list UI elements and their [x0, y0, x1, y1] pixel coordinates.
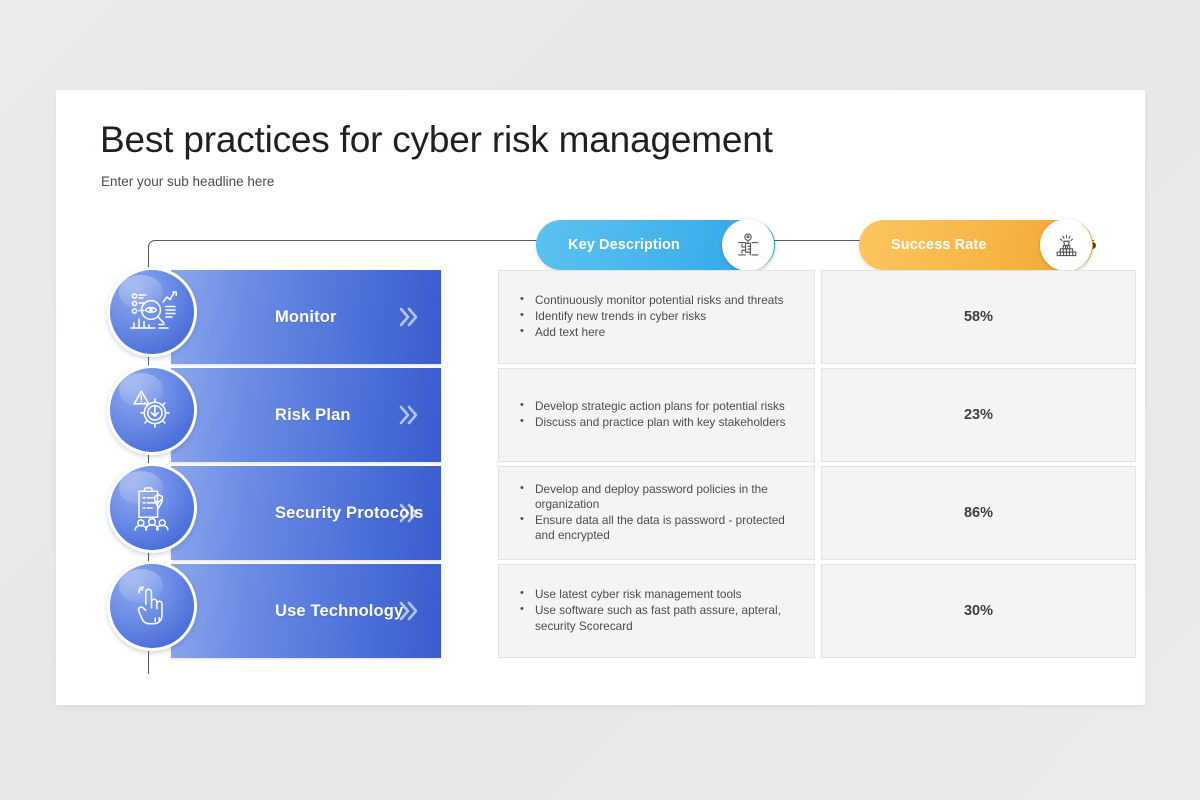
row-success-rate-risk-plan: 23% [821, 368, 1136, 462]
row-description-use-technology: Use latest cyber risk management tools U… [498, 564, 815, 658]
list-item: Identify new trends in cyber risks [535, 309, 804, 324]
table-row: Monitor [56, 270, 1145, 364]
row-label: Monitor [275, 308, 337, 327]
double-chevron-right-icon [393, 401, 421, 429]
header-key-description-label: Key Description [568, 237, 680, 253]
gear-warning-download-icon [107, 365, 197, 455]
page-title: Best practices for cyber risk management [100, 118, 773, 162]
header-success-rate-label: Success Rate [891, 237, 987, 253]
podium-trophy-icon [1040, 219, 1092, 271]
success-rate-value: 58% [964, 309, 993, 325]
list-item: Use software such as fast path assure, a… [535, 603, 804, 633]
double-chevron-right-icon [393, 499, 421, 527]
header-key-description[interactable]: Key Description [536, 220, 775, 270]
list-item: Continuously monitor potential risks and… [535, 293, 804, 308]
success-rate-value: 23% [964, 407, 993, 423]
bullet-list: Develop and deploy password policies in … [499, 482, 814, 545]
bullet-list: Develop strategic action plans for poten… [499, 399, 814, 431]
row-label: Use Technology [275, 602, 403, 621]
row-description-monitor: Continuously monitor potential risks and… [498, 270, 815, 364]
page-subtitle: Enter your sub headline here [101, 174, 274, 189]
double-chevron-right-icon [393, 597, 421, 625]
row-description-security-protocols: Develop and deploy password policies in … [498, 466, 815, 560]
key-circuit-icon [722, 219, 774, 271]
table-row: Risk Plan [56, 368, 1145, 462]
success-rate-value: 86% [964, 505, 993, 521]
list-item: Develop and deploy password policies in … [535, 482, 804, 512]
table-row: Security Protocols [56, 466, 1145, 560]
list-item: Use latest cyber risk management tools [535, 587, 804, 602]
bullet-list: Continuously monitor potential risks and… [499, 293, 814, 342]
slide: Best practices for cyber risk management… [56, 90, 1145, 705]
list-item: Discuss and practice plan with key stake… [535, 415, 804, 430]
row-success-rate-use-technology: 30% [821, 564, 1136, 658]
hand-tap-touch-icon [107, 561, 197, 651]
header-success-rate[interactable]: Success Rate [859, 220, 1093, 270]
table-row: Use Technology Use latest cyber risk man [56, 564, 1145, 658]
clipboard-shield-people-icon [107, 463, 197, 553]
list-item: Develop strategic action plans for poten… [535, 399, 804, 414]
double-chevron-right-icon [393, 303, 421, 331]
row-label: Risk Plan [275, 406, 351, 425]
bullet-list: Use latest cyber risk management tools U… [499, 587, 814, 635]
row-description-risk-plan: Develop strategic action plans for poten… [498, 368, 815, 462]
row-label-bar-monitor[interactable]: Monitor [171, 270, 441, 364]
row-success-rate-security-protocols: 86% [821, 466, 1136, 560]
monitoring-eye-magnifier-icon [107, 267, 197, 357]
row-success-rate-monitor: 58% [821, 270, 1136, 364]
connector-horizontal-middle [768, 240, 865, 241]
connector-horizontal-left [163, 240, 543, 241]
list-item: Add text here [535, 325, 804, 340]
row-label-bar-security-protocols[interactable]: Security Protocols [171, 466, 441, 560]
row-label-bar-risk-plan[interactable]: Risk Plan [171, 368, 441, 462]
row-label-bar-use-technology[interactable]: Use Technology [171, 564, 441, 658]
slide-canvas: Best practices for cyber risk management… [0, 0, 1200, 800]
list-item: Ensure data all the data is password - p… [535, 513, 804, 543]
connector-corner [148, 240, 165, 257]
success-rate-value: 30% [964, 603, 993, 619]
